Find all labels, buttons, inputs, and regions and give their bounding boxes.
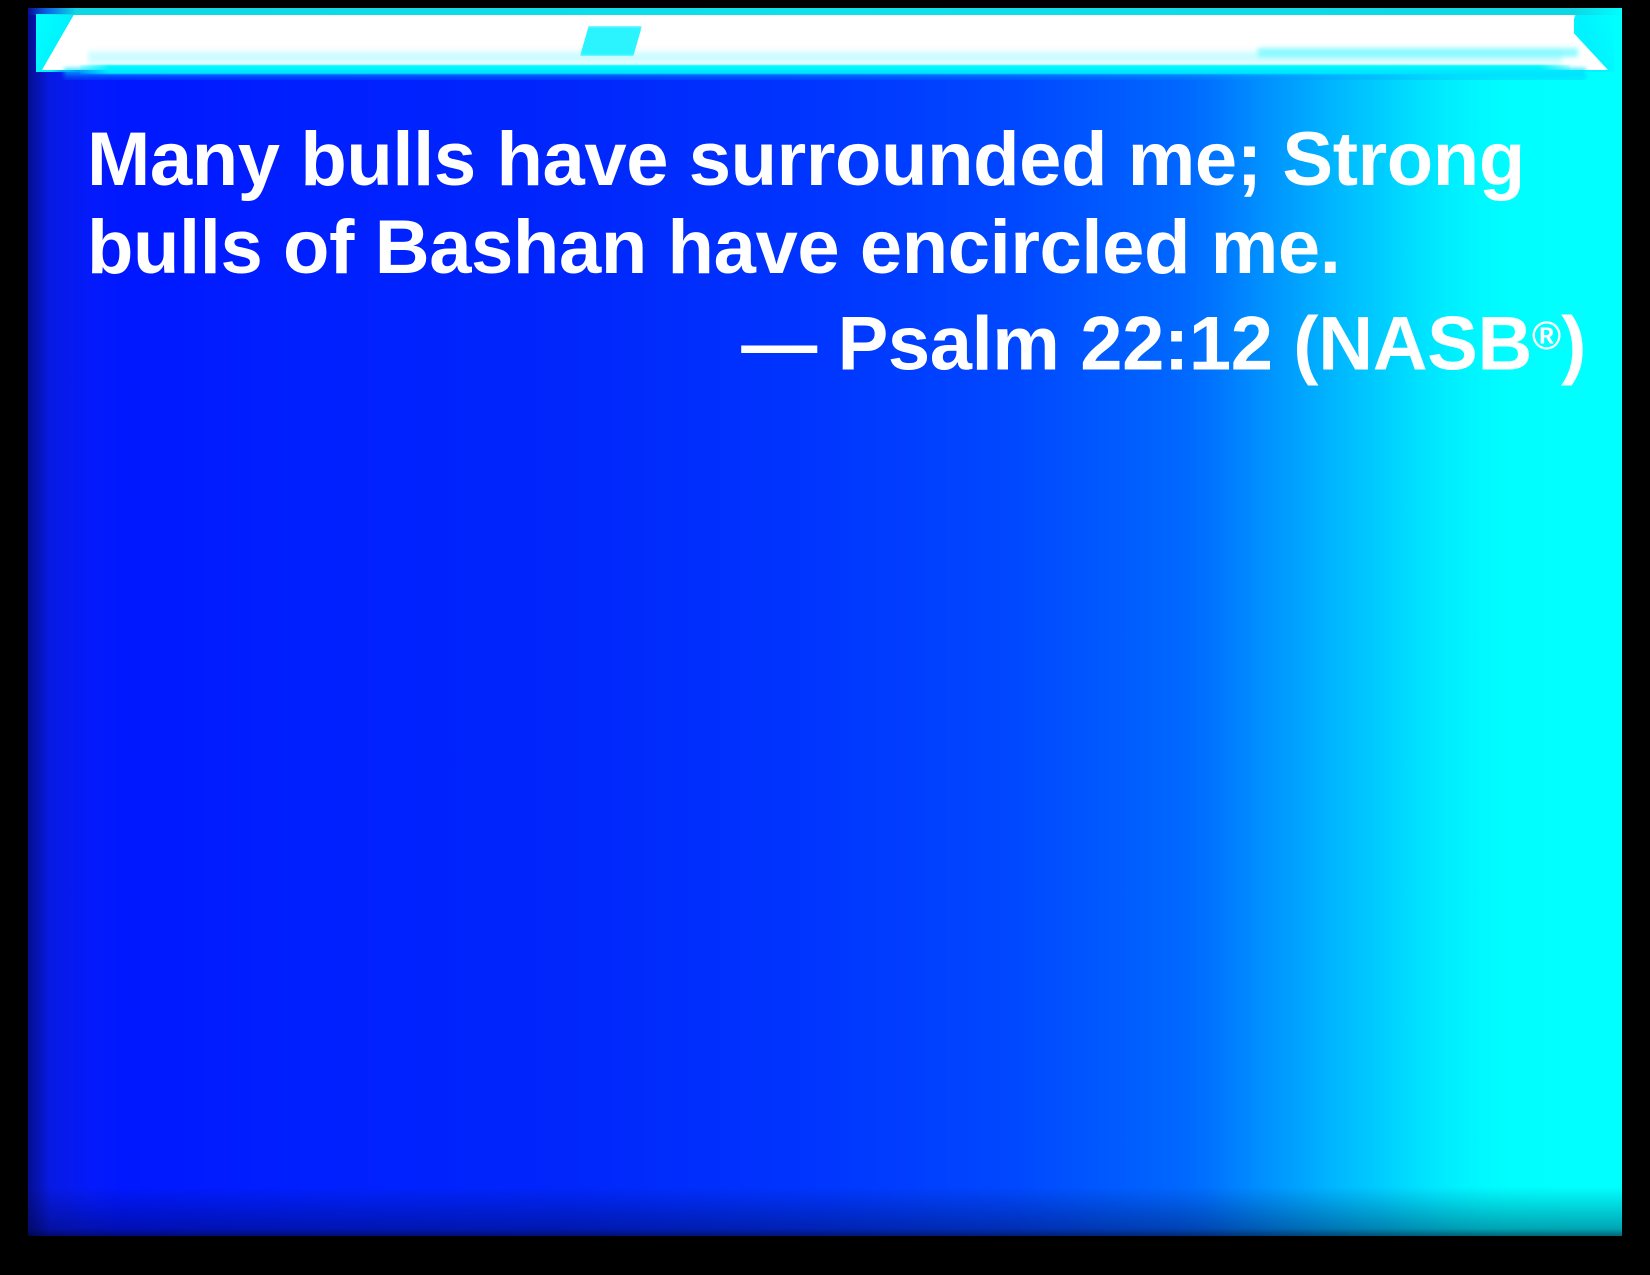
verse-line-2: bulls of Bashan have encircled me. xyxy=(87,204,1592,292)
band-bottom-glow xyxy=(64,68,1586,80)
citation-spacer xyxy=(817,302,838,387)
top-highlight-band xyxy=(28,8,1622,80)
verse-citation: — Psalm 22:12 (NASB®) xyxy=(87,292,1592,389)
band-cyan-top-rule xyxy=(28,8,1622,15)
band-cyan-streak xyxy=(1258,48,1578,57)
citation-spacer-2 xyxy=(1273,302,1294,387)
citation-translation-open: (NASB xyxy=(1293,302,1532,387)
band-cyan-notch xyxy=(580,26,642,56)
citation-translation-close: ) xyxy=(1561,302,1586,387)
slide-frame: Many bulls have surrounded me; Strong bu… xyxy=(0,0,1650,1275)
verse-line-1: Many bulls have surrounded me; Strong xyxy=(87,116,1592,204)
citation-em-dash: — xyxy=(741,302,817,387)
registered-trademark-icon: ® xyxy=(1532,314,1561,358)
slide-canvas: Many bulls have surrounded me; Strong bu… xyxy=(28,8,1622,1236)
citation-reference: Psalm 22:12 xyxy=(838,302,1273,387)
verse-text-block: Many bulls have surrounded me; Strong bu… xyxy=(87,116,1592,389)
